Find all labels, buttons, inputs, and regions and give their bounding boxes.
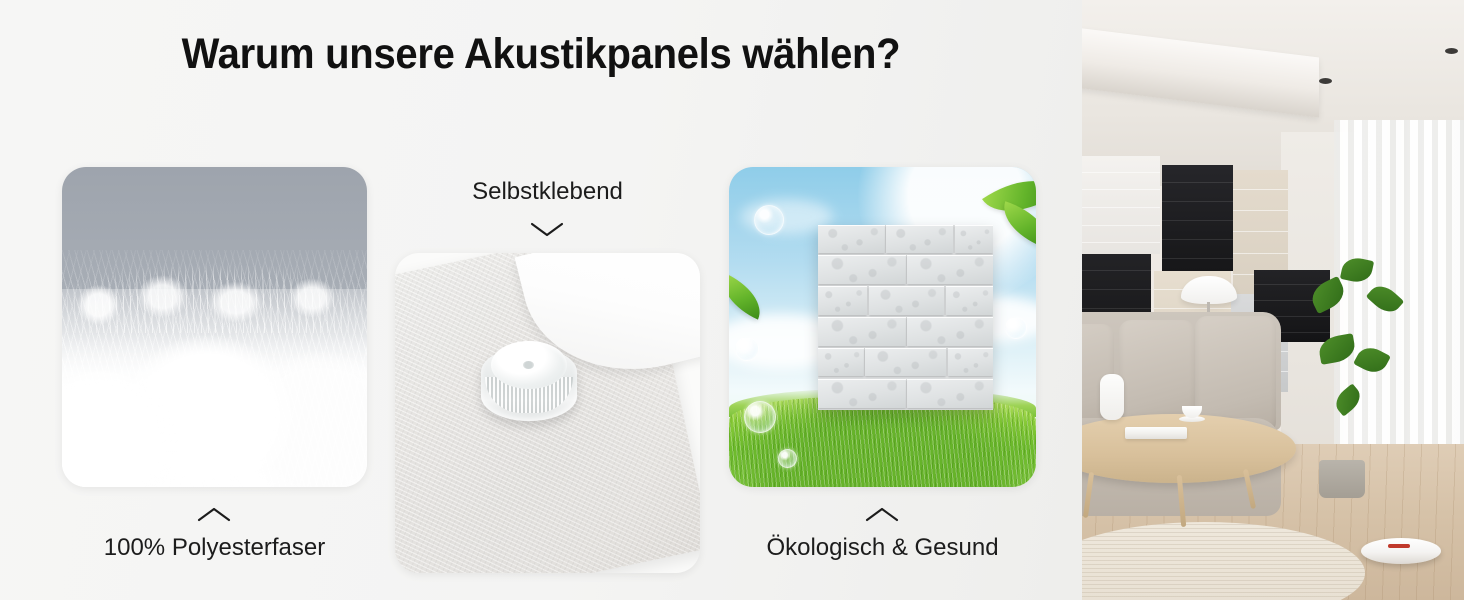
- feature-section: Warum unsere Akustikpanels wählen? 100% …: [0, 0, 1082, 600]
- fibre-strands: [62, 250, 367, 487]
- bubble: [778, 449, 797, 468]
- page-title: Warum unsere Akustikpanels wählen?: [38, 30, 1044, 79]
- magazines: [1125, 427, 1187, 439]
- bubble: [744, 401, 776, 433]
- feature-image-polyester: [62, 167, 367, 487]
- room-photo: [1082, 0, 1464, 600]
- acoustic-panel-product: [818, 225, 993, 411]
- bubble: [735, 337, 759, 361]
- feature-caption-polyester: 100% Polyesterfaser: [62, 534, 367, 562]
- chevron-up-icon: [865, 506, 899, 522]
- chevron-up-icon: [197, 506, 231, 522]
- coffee-table: [1082, 414, 1296, 546]
- ceiling-spotlight-icon: [1319, 78, 1332, 84]
- robot-vacuum: [1361, 538, 1441, 564]
- promo-banner: Warum unsere Akustikpanels wählen? 100% …: [0, 0, 1464, 600]
- plant-pot: [1319, 460, 1365, 498]
- smart-speaker: [1100, 374, 1124, 420]
- feature-image-eco: [729, 167, 1036, 487]
- chevron-down-icon: [530, 221, 564, 237]
- bubble: [754, 205, 784, 235]
- feature-caption-self-adhesive: Selbstklebend: [395, 178, 700, 206]
- ceiling-spotlight-icon: [1445, 48, 1458, 54]
- panel-black: [1162, 165, 1233, 272]
- transparent-cap: [481, 333, 577, 429]
- feature-image-self-adhesive: [395, 253, 700, 573]
- panel-white: [1082, 156, 1160, 254]
- coffee-cup: [1179, 406, 1205, 422]
- feature-caption-eco: Ökologisch & Gesund: [729, 534, 1036, 562]
- leaf-icon: [729, 273, 770, 319]
